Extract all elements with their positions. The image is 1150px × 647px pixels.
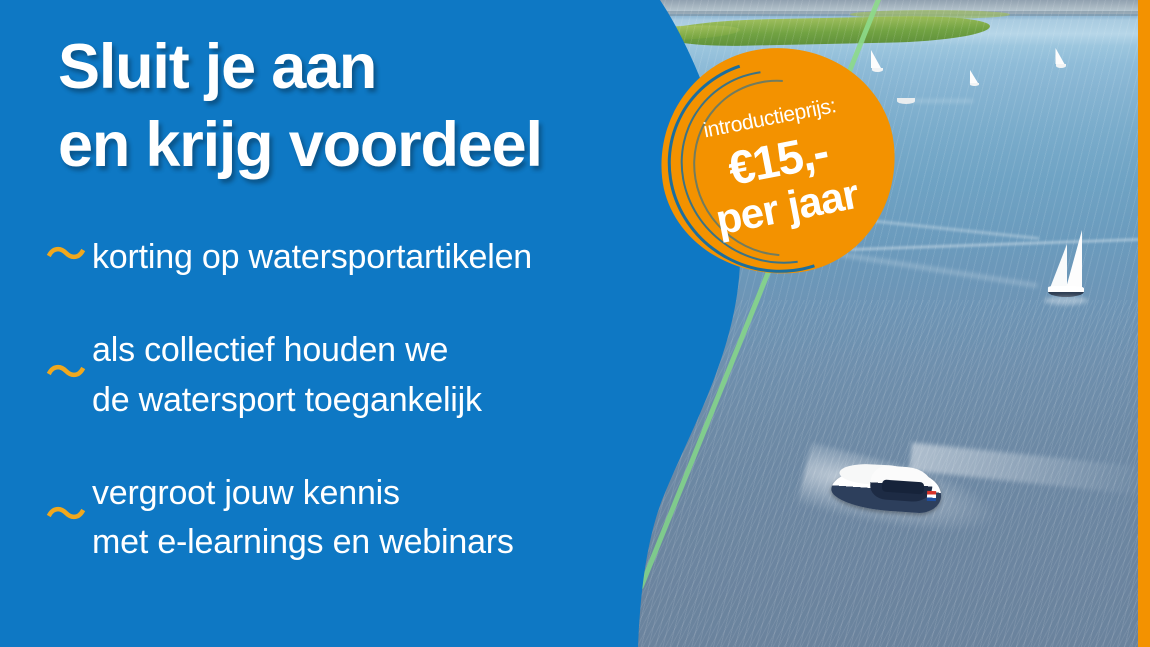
headline-line-1: Sluit je aan: [58, 28, 658, 106]
wave-tilde-icon: 〜: [40, 495, 92, 535]
wave-tilde-icon: 〜: [40, 235, 92, 275]
headline-line-2: en krijg voordeel: [58, 106, 658, 184]
list-item: 〜 korting op watersportartikelen: [40, 233, 660, 282]
list-item-label: als collectief houden we de watersport t…: [92, 326, 482, 425]
motorboat-main: [819, 434, 960, 537]
list-item-label: korting op watersportartikelen: [92, 233, 532, 282]
promo-banner: Sluit je aan en krijg voordeel 〜 korting…: [0, 0, 1150, 647]
list-item-label: vergroot jouw kennis met e-learnings en …: [92, 469, 514, 568]
list-item: 〜 vergroot jouw kennis met e-learnings e…: [40, 469, 660, 568]
badge-text-group: introductieprijs: €15,- per jaar: [642, 28, 915, 294]
right-accent-bar: [1138, 0, 1150, 647]
price-badge: introductieprijs: €15,- per jaar: [661, 48, 895, 274]
wave-tilde-icon: 〜: [40, 353, 92, 393]
motorboat-distant: [897, 96, 919, 104]
list-item: 〜 als collectief houden we de watersport…: [40, 326, 660, 425]
sailboat-distant: [1055, 48, 1069, 68]
sailboat-distant: [970, 70, 982, 86]
page-title: Sluit je aan en krijg voordeel: [58, 28, 658, 184]
sailboat-main: [1040, 230, 1090, 308]
benefit-list: 〜 korting op watersportartikelen 〜 als c…: [40, 233, 660, 567]
motorboat-flag-icon: [927, 491, 936, 501]
